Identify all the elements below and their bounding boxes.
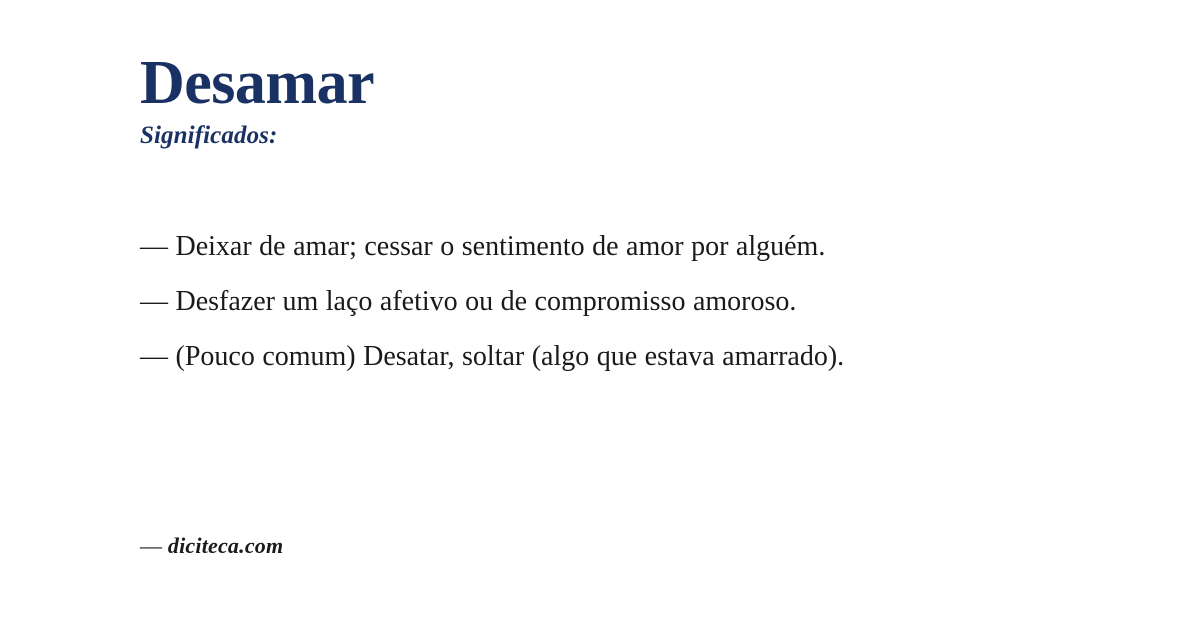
- definition-text: Desfazer um laço afetivo ou de compromis…: [176, 286, 797, 317]
- source-attribution: — diciteca.com: [140, 533, 283, 559]
- em-dash-marker: —: [140, 286, 168, 317]
- definition-item: — Desfazer um laço afetivo ou de comprom…: [140, 283, 1075, 321]
- footer-dash-marker: —: [140, 533, 162, 558]
- em-dash-marker: —: [140, 341, 168, 372]
- source-name: diciteca.com: [168, 533, 283, 558]
- em-dash-marker: —: [140, 231, 168, 262]
- entry-footer: — diciteca.com: [140, 533, 283, 559]
- meanings-label: Significados:: [140, 122, 1140, 150]
- definition-item: — Deixar de amar; cessar o sentimento de…: [140, 228, 1075, 266]
- definition-text: Deixar de amar; cessar o sentimento de a…: [176, 231, 826, 262]
- definition-item: — (Pouco comum) Desatar, soltar (algo qu…: [140, 338, 1075, 376]
- definition-list: — Deixar de amar; cessar o sentimento de…: [140, 228, 1075, 376]
- page-title: Desamar: [140, 52, 1140, 114]
- entry-header: Desamar Significados:: [140, 52, 1140, 150]
- dictionary-entry-card: Desamar Significados: — Deixar de amar; …: [0, 0, 1200, 628]
- definition-text: (Pouco comum) Desatar, soltar (algo que …: [176, 341, 845, 372]
